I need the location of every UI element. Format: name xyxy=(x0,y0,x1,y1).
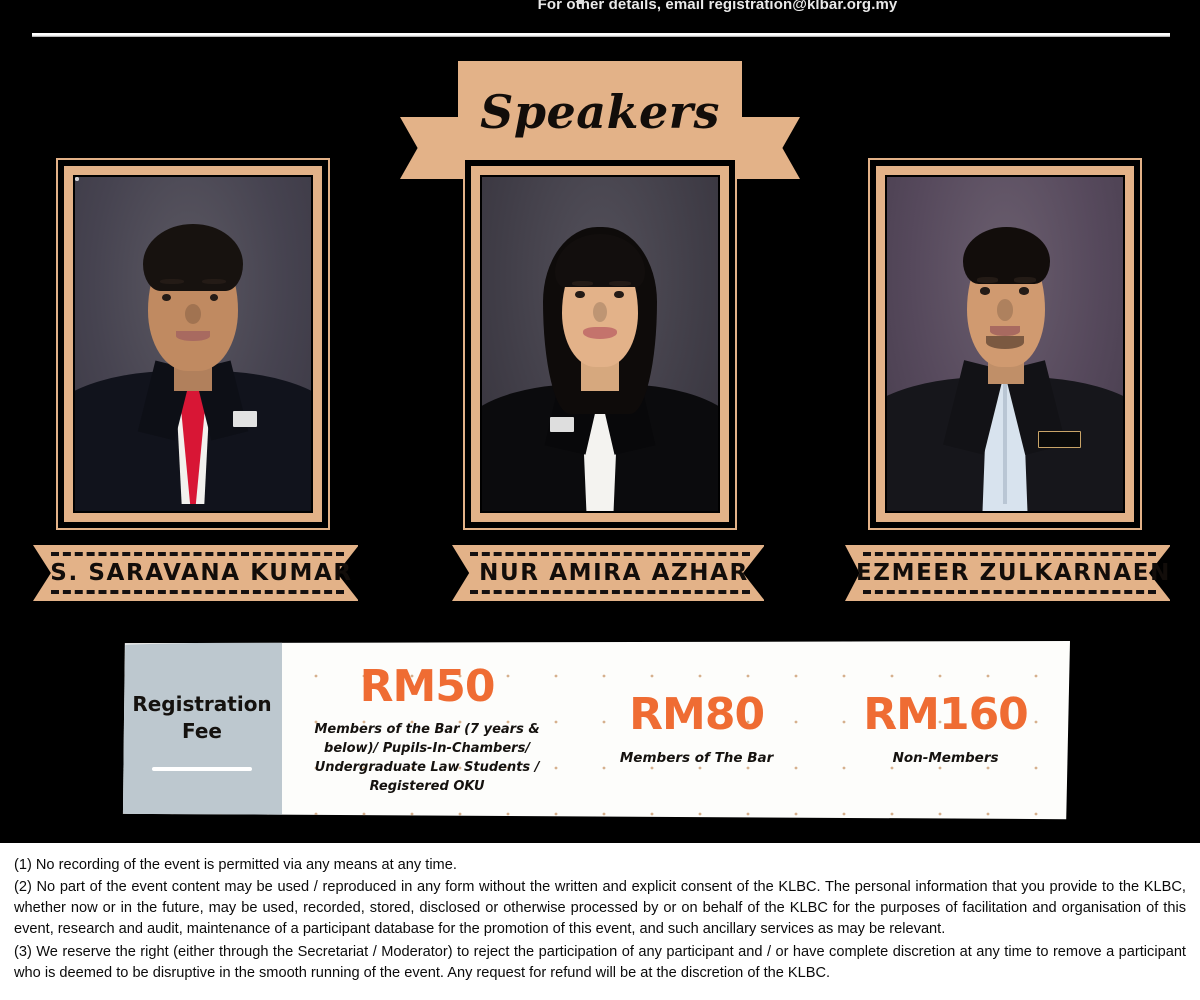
speaker-card-0 xyxy=(33,158,353,530)
registration-fee-label-line1: Registration xyxy=(132,692,271,716)
speaker-name-2: EZMEER ZULKARNAEN xyxy=(856,560,1171,586)
banner-plate: Speakers xyxy=(458,61,742,167)
ribbon-dash-bottom xyxy=(470,590,750,594)
speaker-name-ribbon-0: S. SARAVANA KUMAR xyxy=(33,545,358,601)
fee-tier-0: RM50 Members of the Bar (7 years & below… xyxy=(282,641,572,821)
fee-description-2: Non-Members xyxy=(893,749,999,769)
speaker-name-0: S. SARAVANA KUMAR xyxy=(50,560,352,586)
ribbon-dash-top xyxy=(51,552,344,556)
contact-email-text: For other details, email registration@kl… xyxy=(538,0,898,13)
event-poster: For other details, email registration@kl… xyxy=(0,0,1200,1000)
terms-and-conditions: (1) No recording of the event is permitt… xyxy=(0,843,1200,1000)
fee-amount-0: RM50 xyxy=(360,665,495,709)
fee-tier-1: RM80 Members of The Bar xyxy=(572,641,821,821)
registration-fee-label-line2: Fee xyxy=(182,719,222,743)
terms-item-2: (2) No part of the event content may be … xyxy=(14,877,1186,940)
lapel-badge-icon xyxy=(550,417,574,432)
label-underline xyxy=(152,767,252,771)
ribbon-dash-top xyxy=(863,552,1156,556)
speaker-card-1 xyxy=(440,158,760,530)
speakers-banner: Speakers xyxy=(0,55,1200,145)
speaker-name-1: NUR AMIRA AZHAR xyxy=(479,560,749,586)
banner-title: Speakers xyxy=(480,85,720,139)
speaker-photo-0 xyxy=(75,177,311,511)
top-text-fragment xyxy=(578,0,584,4)
photo-frame-inner-1 xyxy=(471,166,729,522)
fee-description-0: Members of the Bar (7 years & below)/ Pu… xyxy=(292,721,562,796)
registration-fee-label-panel: Registration Fee xyxy=(122,641,282,821)
speakers-row xyxy=(0,158,1200,608)
fee-tier-2: RM160 Non-Members xyxy=(821,641,1070,821)
fee-tier-columns: RM50 Members of the Bar (7 years & below… xyxy=(282,641,1070,821)
registration-fee-card: Registration Fee RM50 Members of the Bar… xyxy=(122,641,1070,821)
photo-frame-1 xyxy=(463,158,737,530)
ribbon-dash-bottom xyxy=(863,590,1156,594)
photo-frame-2 xyxy=(868,158,1142,530)
fee-amount-2: RM160 xyxy=(863,693,1028,737)
name-badge-icon xyxy=(1038,431,1080,448)
lapel-badge-icon xyxy=(233,411,257,428)
terms-item-1: (1) No recording of the event is permitt… xyxy=(14,855,1186,876)
speaker-photo-1 xyxy=(482,177,718,511)
photo-frame-inner-2 xyxy=(876,166,1134,522)
fee-description-1: Members of The Bar xyxy=(620,749,773,769)
ribbon-dash-top xyxy=(470,552,750,556)
speaker-photo-2 xyxy=(887,177,1123,511)
photo-frame-inner-0 xyxy=(64,166,322,522)
speaker-name-ribbon-2: EZMEER ZULKARNAEN xyxy=(845,545,1170,601)
contact-email-line: For other details, email registration@kl… xyxy=(0,0,1200,13)
fee-amount-1: RM80 xyxy=(629,693,764,737)
speaker-name-ribbon-1: NUR AMIRA AZHAR xyxy=(452,545,764,601)
speaker-card-2 xyxy=(845,158,1165,530)
terms-item-3: (3) We reserve the right (either through… xyxy=(14,942,1186,984)
header-divider-rule xyxy=(32,33,1170,37)
ribbon-dash-bottom xyxy=(51,590,344,594)
photo-frame-0 xyxy=(56,158,330,530)
